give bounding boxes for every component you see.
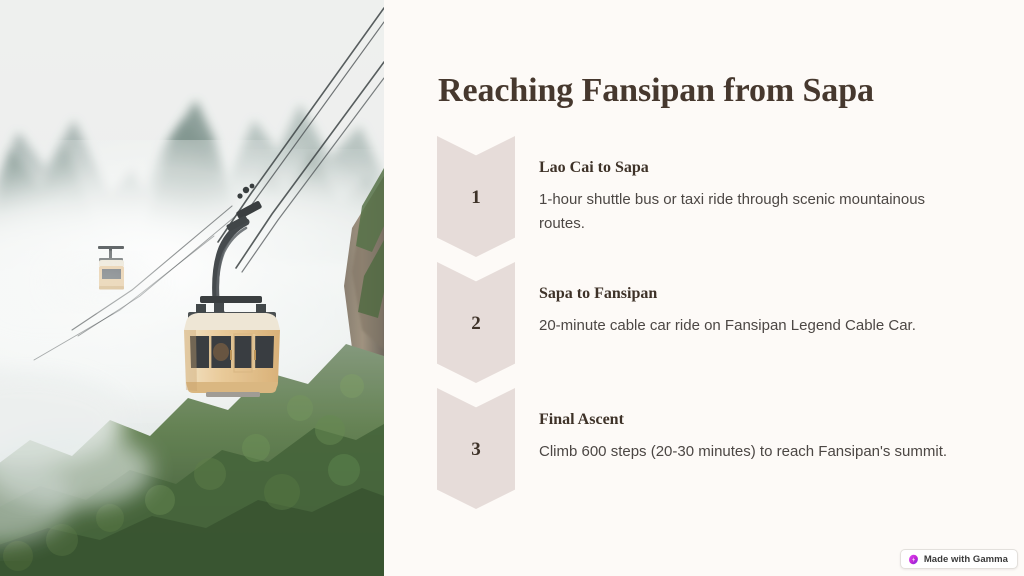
step-heading: Lao Cai to Sapa <box>539 158 1017 177</box>
gamma-badge-label: Made with Gamma <box>924 554 1008 565</box>
step-number: 3 <box>471 440 481 459</box>
cable-car-mountain-illustration <box>0 0 384 576</box>
steps-list: 1 Lao Cai to Sapa 1-hour shuttle bus or … <box>437 136 1017 509</box>
step-body: Climb 600 steps (20-30 minutes) to reach… <box>539 440 969 464</box>
step-chevron-badge: 1 <box>437 136 515 257</box>
step-number: 2 <box>471 314 481 333</box>
step-text-block: Final Ascent Climb 600 steps (20-30 minu… <box>515 388 1017 464</box>
step-body: 1-hour shuttle bus or taxi ride through … <box>539 188 969 236</box>
made-with-gamma-badge[interactable]: Made with Gamma <box>900 549 1018 569</box>
step-body: 20-minute cable car ride on Fansipan Leg… <box>539 314 969 338</box>
list-item: 2 Sapa to Fansipan 20-minute cable car r… <box>437 262 1017 383</box>
step-heading: Final Ascent <box>539 410 1017 429</box>
step-number: 1 <box>471 188 481 207</box>
slide: Reaching Fansipan from Sapa 1 Lao Cai to… <box>0 0 1024 576</box>
content-panel: Reaching Fansipan from Sapa 1 Lao Cai to… <box>384 0 1024 576</box>
list-item: 3 Final Ascent Climb 600 steps (20-30 mi… <box>437 388 1017 509</box>
gamma-logo-icon <box>908 554 919 565</box>
list-item: 1 Lao Cai to Sapa 1-hour shuttle bus or … <box>437 136 1017 257</box>
step-text-block: Lao Cai to Sapa 1-hour shuttle bus or ta… <box>515 136 1017 236</box>
step-text-block: Sapa to Fansipan 20-minute cable car rid… <box>515 262 1017 338</box>
page-title: Reaching Fansipan from Sapa <box>438 72 998 110</box>
step-chevron-badge: 3 <box>437 388 515 509</box>
hero-image <box>0 0 384 576</box>
step-chevron-badge: 2 <box>437 262 515 383</box>
step-heading: Sapa to Fansipan <box>539 284 1017 303</box>
